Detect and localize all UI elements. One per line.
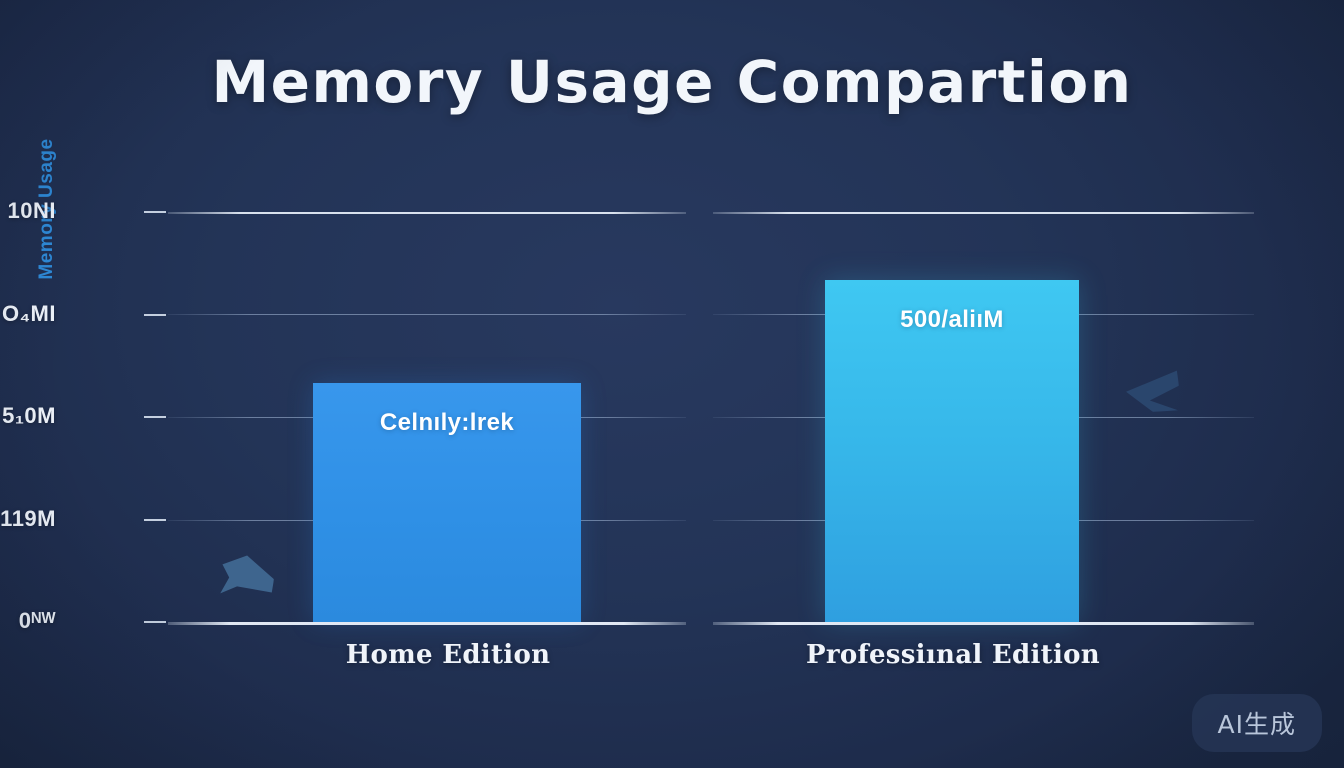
y-axis-tick-stub — [144, 211, 166, 213]
x-axis-baseline-left — [168, 622, 686, 625]
y-axis-tick-label-1: 119M — [0, 506, 56, 532]
y-axis-tick-stub — [144, 416, 166, 418]
ai-watermark-badge: AI生成 — [1192, 694, 1322, 752]
y-axis-tick-stub — [144, 314, 166, 316]
y-axis-tick-label-3: O₄MI — [0, 301, 56, 327]
y-axis-tick-stub — [144, 621, 166, 623]
bar-home-edition[interactable]: Celnıly:lrek — [313, 383, 581, 622]
gridline-segment-left — [168, 314, 686, 315]
bar-professional-edition[interactable]: 500/aliıM — [825, 280, 1079, 622]
chart-title: Memory Usage Compartion — [0, 48, 1344, 116]
y-axis-tick-label-2: 5₁0M — [0, 403, 56, 429]
gridline-segment-right — [713, 212, 1254, 214]
y-axis-tick-label-4: 10NI — [0, 198, 56, 224]
chart-canvas: Memory Usage Compartion Memory Usage Cel… — [0, 0, 1344, 768]
x-axis-label-professional-edition: Professiınal Edition — [798, 640, 1108, 670]
y-axis-tick-stub — [144, 519, 166, 521]
x-axis-baseline-right — [713, 622, 1254, 625]
x-axis-label-home-edition: Home Edition — [293, 640, 603, 670]
bar-value-label: 500/aliıM — [825, 306, 1079, 334]
y-axis-tick-label-0: 0ᴺᵂ — [0, 608, 56, 634]
bar-value-label: Celnıly:lrek — [313, 409, 581, 437]
gridline-5 — [168, 212, 1254, 214]
gridline-4 — [168, 314, 1254, 316]
gridline-segment-left — [168, 212, 686, 214]
plot-area: Celnıly:lrek 500/aliıM 0ᴺᵂ119M5₁0MO₄MI10… — [168, 212, 1254, 622]
